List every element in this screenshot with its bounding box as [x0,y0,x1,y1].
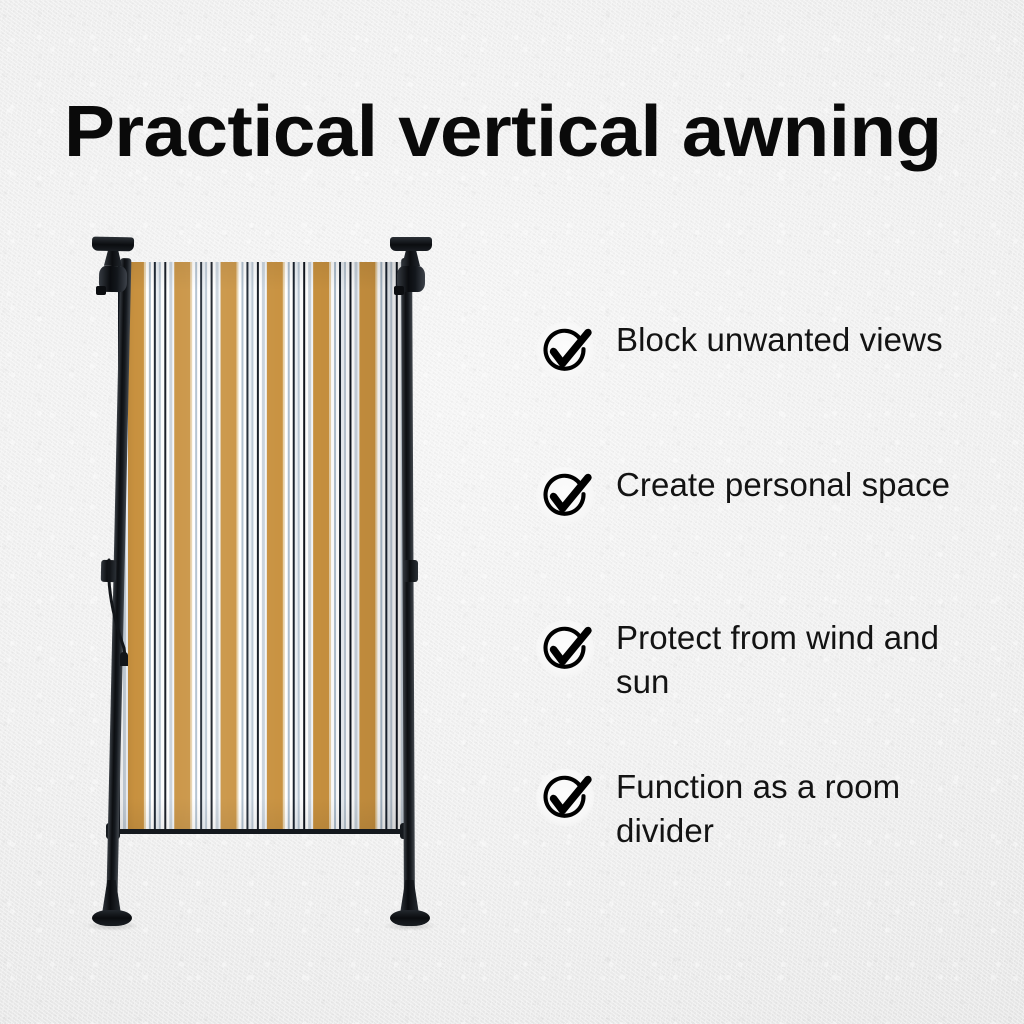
product-illustration [0,0,520,1024]
feature-item-function-as-a-room-divider: Function as a room divider [536,765,966,852]
check-circle-icon [536,467,594,525]
feature-item-protect-from-wind-and-sun: Protect from wind and sun [536,616,966,703]
pole-foot-stem-left [102,880,121,914]
telescoping-joint-left [101,560,116,582]
feature-label: Protect from wind and sun [616,616,966,703]
pole-cap-neck-left [104,250,122,266]
feature-label: Block unwanted views [616,318,943,362]
feature-item-create-personal-space: Create personal space [536,463,950,525]
pole-cap-neck-right [402,250,420,266]
feature-item-block-unwanted-views: Block unwanted views [536,318,943,380]
feature-label: Function as a room divider [616,765,966,852]
pole-top-cap-right [390,237,432,251]
check-circle-icon [536,769,594,827]
check-circle-icon [536,620,594,678]
clamp-lug-right [394,286,404,295]
telescoping-joint-right [403,560,418,582]
fabric-shading [118,262,404,832]
foot-shadow-left [85,921,139,931]
support-pole-right [401,258,415,918]
clamp-lug-left [96,286,106,295]
feature-label: Create personal space [616,463,950,507]
awning-fabric [118,262,404,832]
pole-foot-stem-right [400,880,419,914]
pole-top-cap-left [92,237,134,252]
promo-image: Practical vertical awning [0,0,1024,1024]
foot-shadow-right [383,921,437,931]
check-circle-icon [536,322,594,380]
bottom-rail [112,829,410,834]
